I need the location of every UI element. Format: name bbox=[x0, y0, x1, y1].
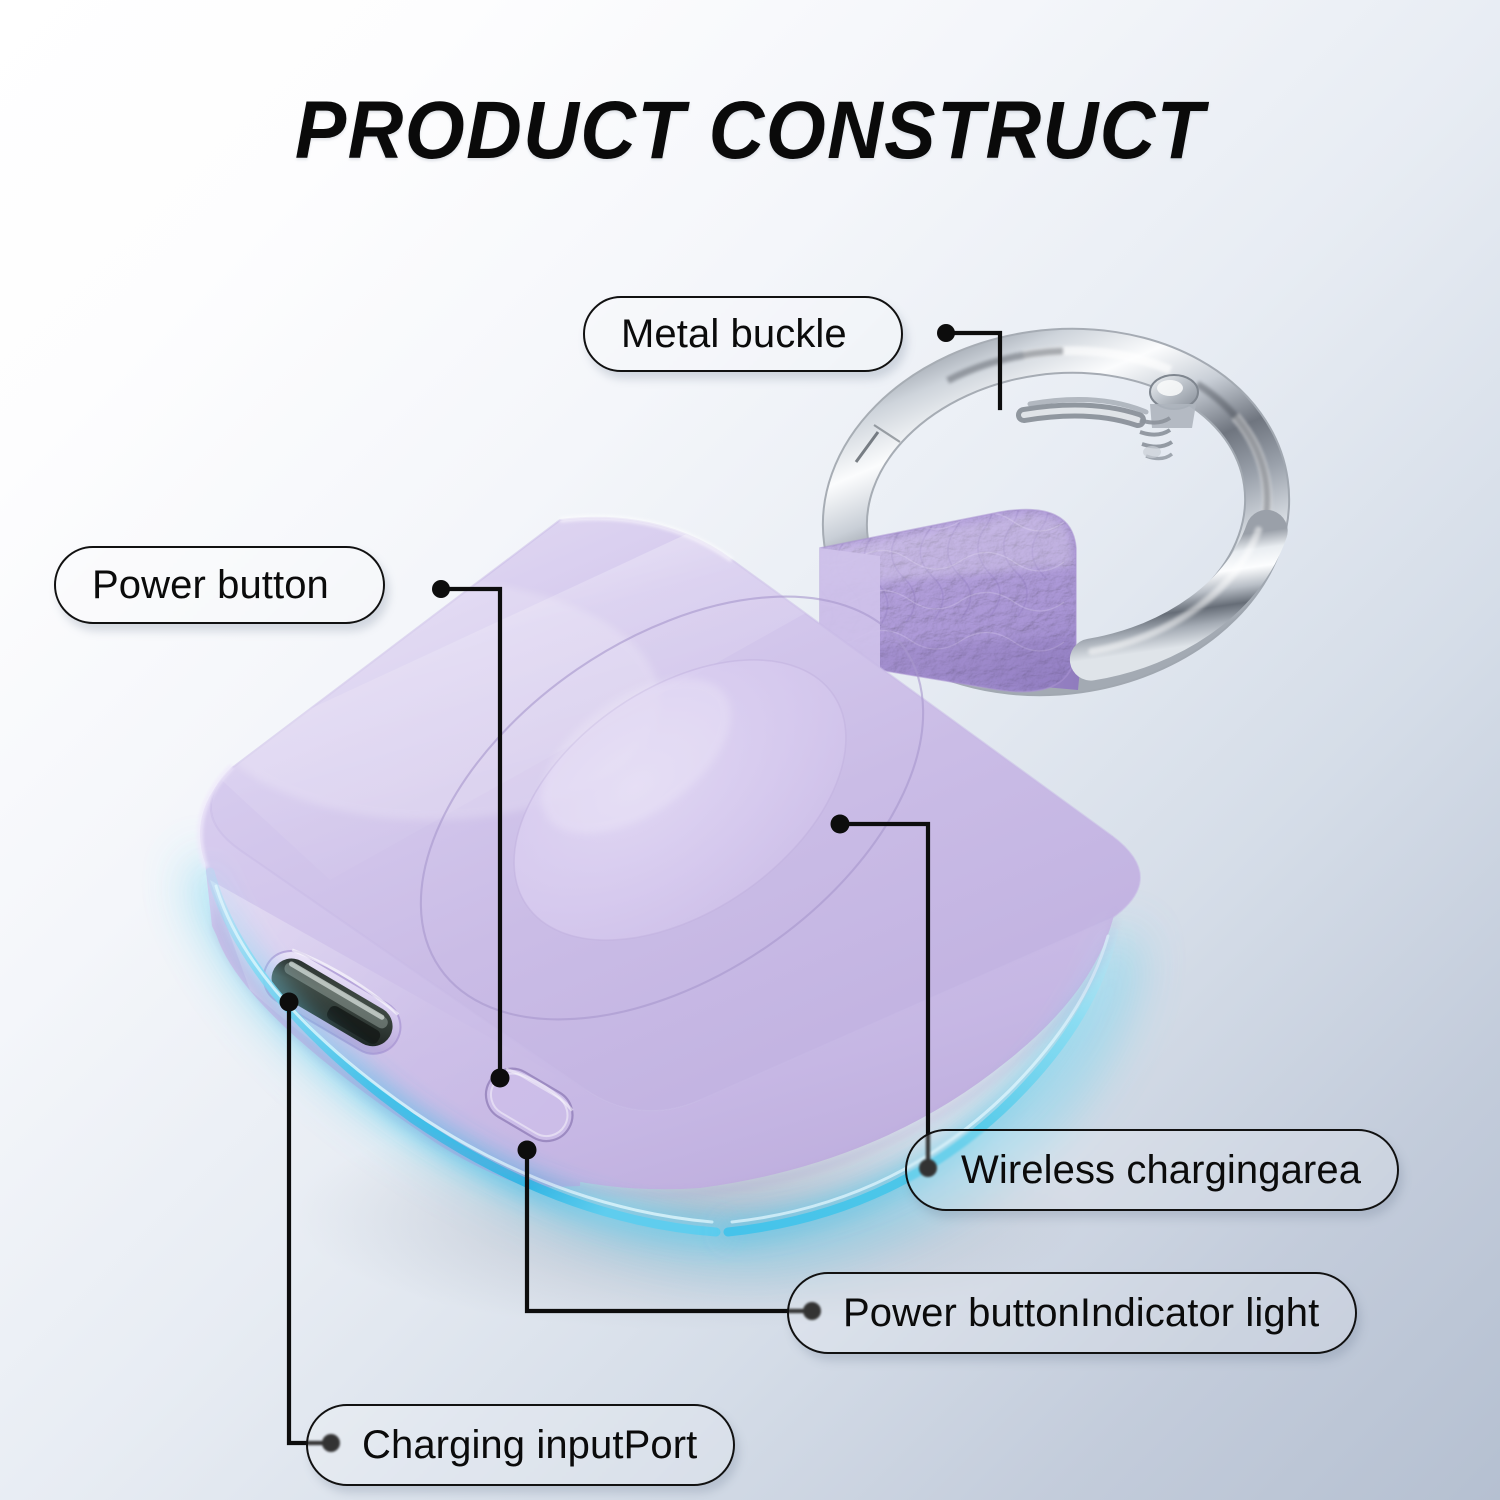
callout-power-button[interactable]: Power button bbox=[54, 546, 385, 624]
callout-wireless-charging-area[interactable]: Wireless chargingarea bbox=[905, 1129, 1399, 1211]
callout-metal-buckle-label: Metal buckle bbox=[621, 314, 847, 354]
callout-charging-input-port-label: Charging inputPort bbox=[362, 1425, 697, 1465]
callout-power-button-indicator-light[interactable]: Power buttonIndicator light bbox=[787, 1272, 1357, 1354]
callout-metal-buckle[interactable]: Metal buckle bbox=[583, 296, 903, 372]
ring-front-arc bbox=[1077, 530, 1281, 660]
product-diagram: PRODUCT CONSTRUCT bbox=[0, 0, 1500, 1500]
callout-power-button-indicator-light-label: Power buttonIndicator light bbox=[843, 1293, 1319, 1333]
callout-charging-input-port[interactable]: Charging inputPort bbox=[306, 1404, 735, 1486]
ring-hinge-pin bbox=[1150, 375, 1198, 428]
callout-power-button-label: Power button bbox=[92, 565, 329, 605]
callout-wireless-charging-area-label: Wireless chargingarea bbox=[961, 1150, 1361, 1190]
